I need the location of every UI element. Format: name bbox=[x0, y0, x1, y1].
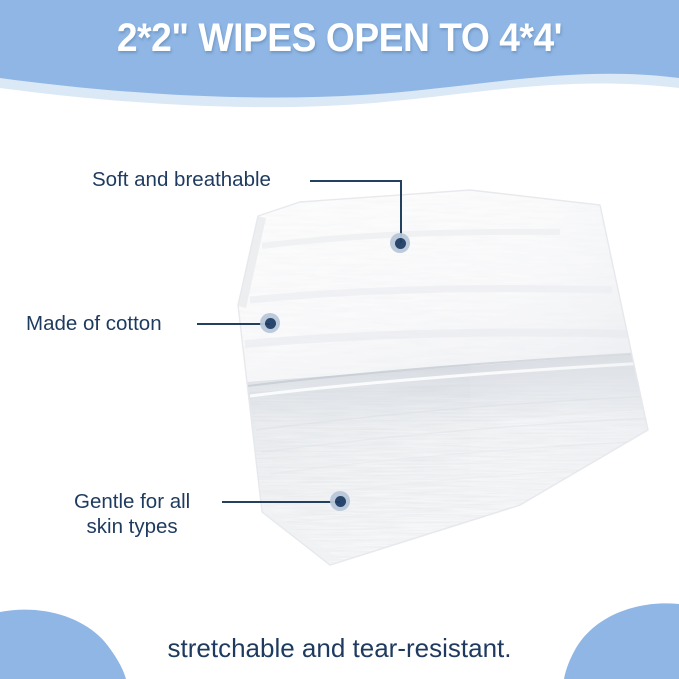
callout-label-soft-and-breathable: Soft and breathable bbox=[92, 167, 271, 192]
wipe-body bbox=[230, 180, 679, 580]
footer-tagline: stretchable and tear-resistant. bbox=[0, 633, 679, 664]
callout-label-made-of-cotton: Made of cotton bbox=[26, 311, 162, 336]
callout-label-gentle-for-all-skin-types: Gentle for all skin types bbox=[74, 489, 190, 539]
callout-leader-horizontal-soft-and-breathable bbox=[310, 180, 401, 182]
callout-dot-soft-and-breathable[interactable] bbox=[390, 233, 410, 253]
infographic-canvas: 2*2" WIPES OPEN TO 4*4' bbox=[0, 0, 679, 679]
wipe-right-shade bbox=[470, 180, 679, 580]
callout-leader-horizontal-gentle-for-all-skin-types bbox=[222, 501, 340, 503]
callout-dot-gentle-for-all-skin-types[interactable] bbox=[330, 491, 350, 511]
callout-dot-made-of-cotton[interactable] bbox=[260, 313, 280, 333]
